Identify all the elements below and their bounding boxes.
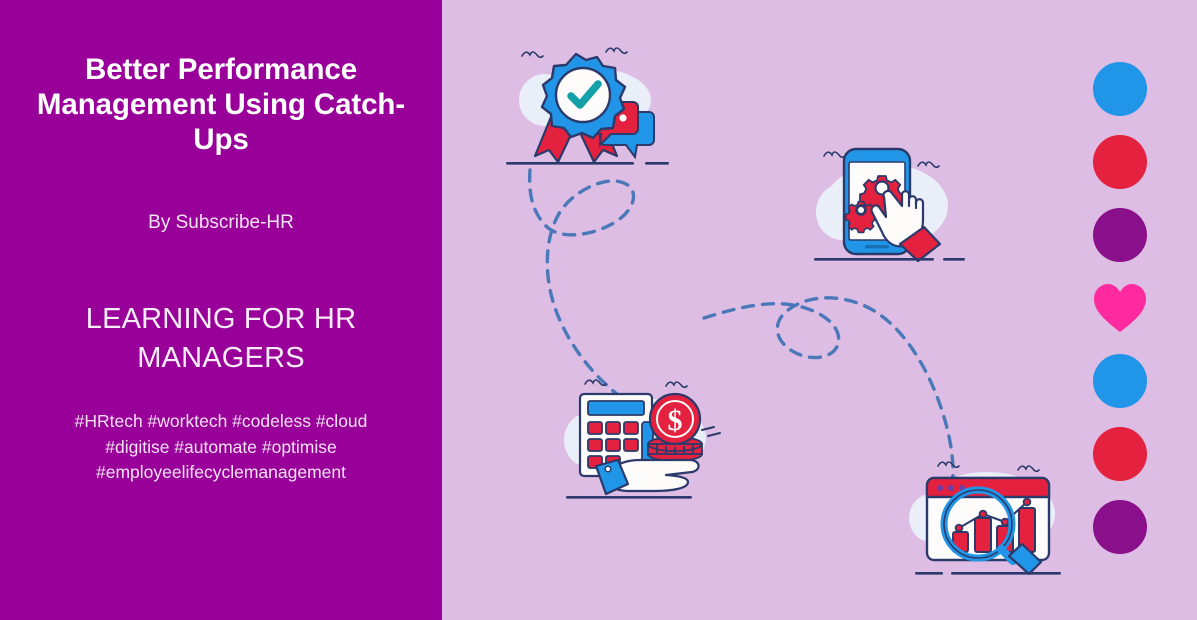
- title-panel: Better Performance Management Using Catc…: [0, 0, 442, 620]
- decorative-shape-column: [1089, 58, 1149, 569]
- calculator-money-illustration: $: [562, 372, 722, 502]
- purple-circle: [1093, 208, 1147, 262]
- hashtag-block: #HRtech #worktech #codeless #cloud #digi…: [28, 409, 414, 486]
- shape-slot: [1089, 496, 1149, 569]
- byline: By Subscribe-HR: [28, 211, 414, 235]
- shape-slot: [1089, 58, 1149, 131]
- award-badge-illustration: [505, 38, 670, 178]
- shape-slot: [1089, 204, 1149, 277]
- hashtag-line: #employeelifecyclemanagement: [28, 460, 414, 486]
- blue-circle: [1093, 354, 1147, 408]
- mobile-settings-illustration: [812, 140, 967, 275]
- hashtag-line: #digitise #automate #optimise: [28, 435, 414, 461]
- purple-circle: [1093, 500, 1147, 554]
- hashtag-line: #HRtech #worktech #codeless #cloud: [28, 409, 414, 435]
- shape-slot: [1089, 423, 1149, 496]
- subheading: LEARNING FOR HR MANAGERS: [28, 300, 414, 378]
- red-circle: [1093, 427, 1147, 481]
- pink-heart-icon: [1093, 283, 1147, 333]
- shape-slot: [1089, 277, 1149, 350]
- blue-circle: [1093, 62, 1147, 116]
- shape-slot: [1089, 131, 1149, 204]
- svg-text:$: $: [668, 404, 683, 437]
- page-title: Better Performance Management Using Catc…: [28, 52, 414, 157]
- slide-canvas: $: [0, 0, 1197, 620]
- analytics-chart-illustration: [905, 452, 1070, 587]
- red-circle: [1093, 135, 1147, 189]
- shape-slot: [1089, 350, 1149, 423]
